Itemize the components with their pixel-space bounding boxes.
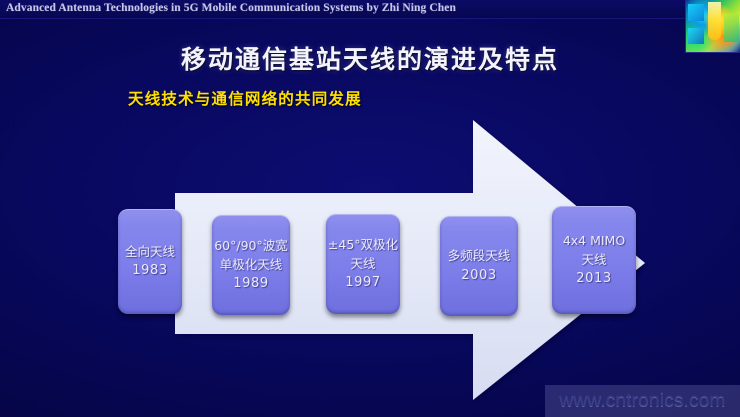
timeline-item-3[interactable]: ±45°双极化 天线 1997 xyxy=(326,214,400,314)
timeline-item-5-label-1: 4x4 MIMO xyxy=(563,231,625,250)
timeline-item-3-label-2: 天线 xyxy=(350,254,375,273)
timeline-item-4-label-1: 多频段天线 xyxy=(448,246,511,265)
timeline-item-5-year: 2013 xyxy=(576,269,611,289)
presentation-slide: Advanced Antenna Technologies in 5G Mobi… xyxy=(0,0,740,417)
timeline-boxes: 全向天线 1983 60°/90°波宽 单极化天线 1989 ±45°双极化 天… xyxy=(0,0,740,417)
timeline-item-3-year: 1997 xyxy=(345,273,380,293)
timeline-item-1-year: 1983 xyxy=(132,261,167,281)
timeline-item-2-label-1: 60°/90°波宽 xyxy=(214,236,288,255)
timeline-item-3-label-1: ±45°双极化 xyxy=(328,235,398,254)
timeline-item-1[interactable]: 全向天线 1983 xyxy=(118,209,182,314)
timeline-item-5[interactable]: 4x4 MIMO 天线 2013 xyxy=(552,206,636,314)
timeline-item-5-label-2: 天线 xyxy=(581,250,606,269)
timeline-item-2-year: 1989 xyxy=(233,274,268,294)
timeline-item-4[interactable]: 多频段天线 2003 xyxy=(440,216,518,316)
timeline-item-2-label-2: 单极化天线 xyxy=(220,255,283,274)
timeline-item-1-label-1: 全向天线 xyxy=(125,242,175,261)
site-watermark: www.cntronics.com xyxy=(545,385,740,417)
timeline-item-2[interactable]: 60°/90°波宽 单极化天线 1989 xyxy=(212,215,290,315)
timeline-item-4-year: 2003 xyxy=(461,266,496,286)
